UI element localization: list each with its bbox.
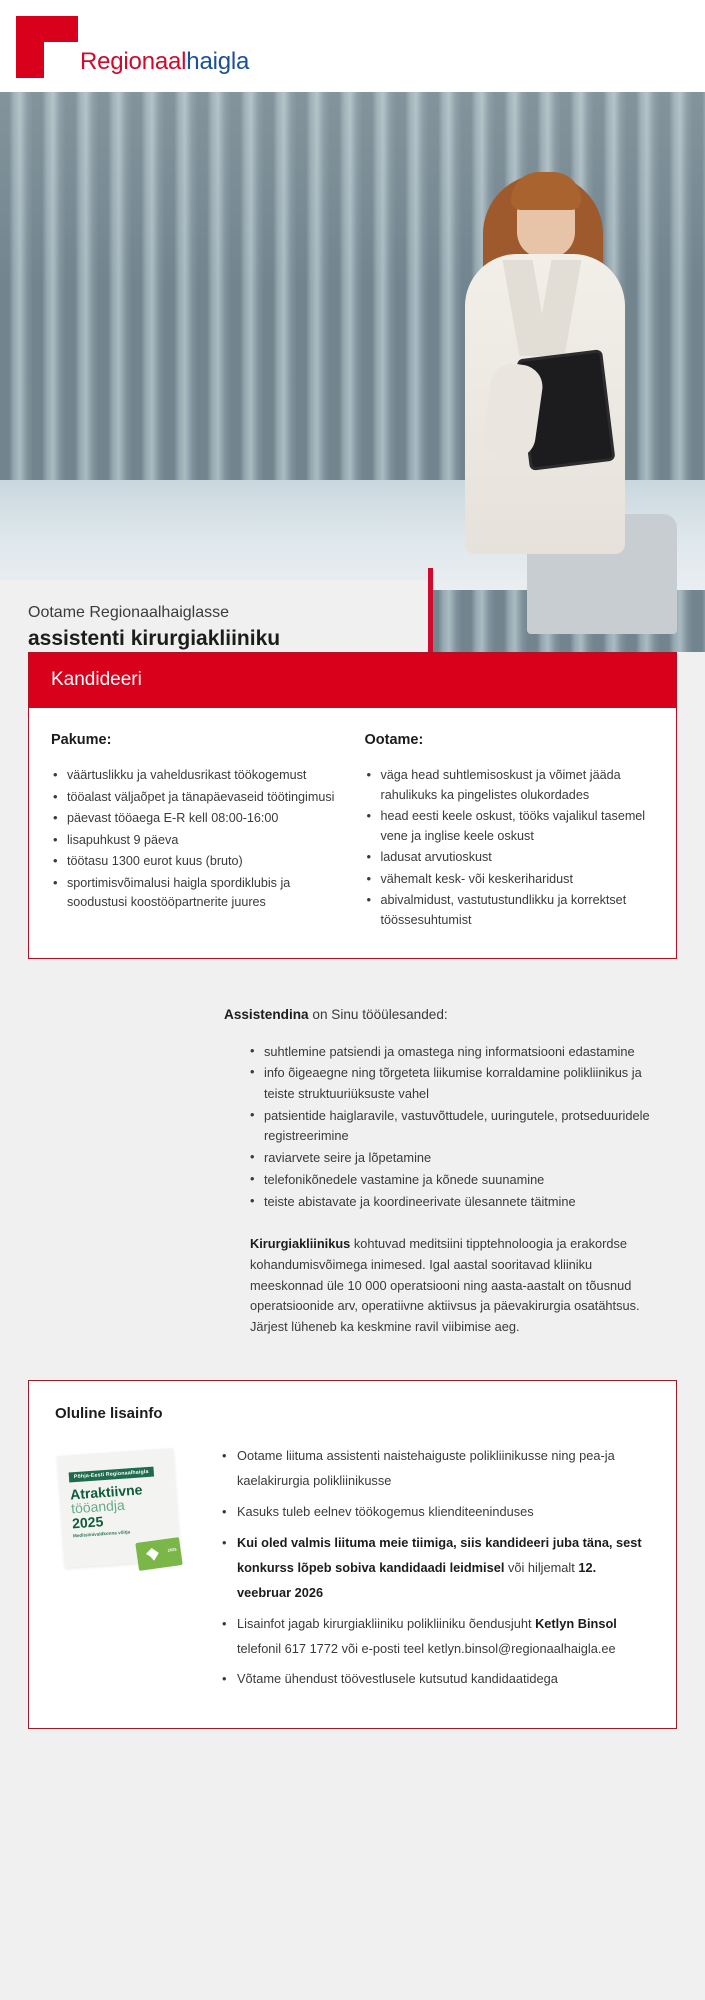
expect-column: Ootame: väga head suhtlemisoskust ja või… (365, 732, 655, 932)
list-item: Võtame ühendust töövestlusele kutsutud k… (219, 1667, 652, 1692)
list-item: vähemalt kesk- või keskeriharidust (365, 870, 655, 890)
list-item: raviarvete seire ja lõpetamine (250, 1148, 653, 1169)
site-header: Regionaalhaigla (0, 0, 705, 92)
list-item: sportimisvõimalusi haigla spordiklubis j… (51, 874, 341, 913)
tasks-section: Assistendina on Sinu tööülesanded: suhtl… (28, 1005, 677, 1338)
job-title-pretext: Ootame Regionaalhaiglasse (28, 602, 404, 624)
award-badge-image: Põhja-Eesti Regionaalhaigla Atraktiivne … (55, 1448, 183, 1570)
page-title: assistenti kirurgiakliiniku polikliiniku… (28, 626, 404, 652)
list-item: Lisainfot jagab kirurgiakliiniku polikli… (219, 1612, 652, 1662)
offer-column: Pakume: väärtuslikku ja vaheldusrikast t… (51, 732, 341, 932)
list-item: patsientide haiglaravile, vastuvõttudele… (250, 1106, 653, 1147)
expect-column-title: Ootame: (365, 732, 655, 748)
lisainfo-card: Oluline lisainfo Põhja-Eesti Regionaalha… (28, 1380, 677, 1730)
award-badge-wrap: Põhja-Eesti Regionaalhaigla Atraktiivne … (55, 1444, 197, 1570)
list-item-text: telefonil 617 1772 või e-posti teel ketl… (237, 1641, 616, 1656)
job-posting-page: Regionaalhaigla Ootame Regionaalhaiglass… (0, 0, 705, 2000)
list-item: töötasu 1300 eurot kuus (bruto) (51, 852, 341, 872)
lisainfo-row: Põhja-Eesti Regionaalhaigla Atraktiivne … (55, 1444, 652, 1699)
offer-column-title: Pakume: (51, 732, 341, 748)
list-item: päevast tööaega E-R kell 08:00-16:00 (51, 809, 341, 829)
list-item-text: Kasuks tuleb eelnev töökogemus kliendite… (237, 1504, 534, 1519)
list-item: lisapuhkust 9 päeva (51, 831, 341, 851)
list-item: abivalmidust, vastutustundlikku ja korre… (365, 891, 655, 930)
list-item: Kasuks tuleb eelnev töökogemus kliendite… (219, 1500, 652, 1525)
logo-word-secondary: haigla (186, 48, 249, 75)
tasks-list: suhtlemine patsiendi ja omastega ning in… (224, 1042, 653, 1213)
tasks-heading-rest: on Sinu tööülesanded: (309, 1007, 448, 1022)
list-item: head eesti keele oskust, tööks vajalikul… (365, 807, 655, 846)
list-item: teiste abistavate ja koordineerivate üle… (250, 1192, 653, 1213)
expect-list: väga head suhtlemisoskust ja võimet jääd… (365, 766, 655, 930)
list-item: Kui oled valmis liituma meie tiimiga, si… (219, 1531, 652, 1606)
job-title-block: Ootame Regionaalhaiglasse assistenti kir… (0, 580, 428, 652)
list-item-text: Ootame liituma assistenti naistehaiguste… (237, 1448, 615, 1488)
lisainfo-list: Ootame liituma assistenti naistehaiguste… (219, 1444, 652, 1699)
hero-red-accent-bar (428, 568, 433, 652)
tasks-heading-bold: Assistendina (224, 1007, 309, 1022)
kandideeri-card: Kandideeri Pakume: väärtuslikku ja vahel… (28, 652, 677, 959)
list-item-text: Võtame ühendust töövestlusele kutsutud k… (237, 1671, 558, 1686)
badge-seal-text: 2025 (167, 1546, 177, 1552)
tasks-heading: Assistendina on Sinu tööülesanded: (224, 1005, 653, 1025)
list-item: tööalast väljaõpet ja tänapäevaseid tööt… (51, 788, 341, 808)
hero-image: Ootame Regionaalhaiglasse assistenti kir… (0, 92, 705, 652)
list-item-text: või hiljemalt (504, 1560, 578, 1575)
list-item: info õigeaegne ning tõrgeteta liikumise … (250, 1063, 653, 1104)
logo-mark-icon (16, 16, 78, 78)
logo-word-primary: Regionaal (80, 48, 186, 75)
list-item-emphasis: Ketlyn Binsol (535, 1616, 617, 1631)
list-item-text: Lisainfot jagab kirurgiakliiniku polikli… (237, 1616, 535, 1631)
badge-seal-icon: 2025 (135, 1537, 182, 1571)
list-item: ladusat arvutioskust (365, 848, 655, 868)
list-item: väga head suhtlemisoskust ja võimet jääd… (365, 766, 655, 805)
list-item: väärtuslikku ja vaheldusrikast töökogemu… (51, 766, 341, 786)
kandideeri-header: Kandideeri (29, 653, 676, 708)
regionaalhaigla-logo[interactable]: Regionaalhaigla (16, 16, 249, 78)
list-item: suhtlemine patsiendi ja omastega ning in… (250, 1042, 653, 1063)
job-title-line-1: assistenti kirurgiakliiniku (28, 627, 280, 650)
logo-wordmark: Regionaalhaigla (80, 50, 249, 78)
hero-person-photo (437, 158, 647, 588)
list-item: Ootame liituma assistenti naistehaiguste… (219, 1444, 652, 1494)
kandideeri-body: Pakume: väärtuslikku ja vaheldusrikast t… (29, 708, 676, 958)
offer-list: väärtuslikku ja vaheldusrikast töökogemu… (51, 766, 341, 913)
clinic-name: Kirurgiakliinikus (250, 1236, 350, 1251)
clinic-description: Kirurgiakliinikus kohtuvad meditsiini ti… (250, 1234, 653, 1338)
lisainfo-title: Oluline lisainfo (55, 1405, 652, 1422)
badge-org-label: Põhja-Eesti Regionaalhaigla (69, 1466, 154, 1482)
list-item: telefonikõnedele vastamine ja kõnede suu… (250, 1170, 653, 1191)
